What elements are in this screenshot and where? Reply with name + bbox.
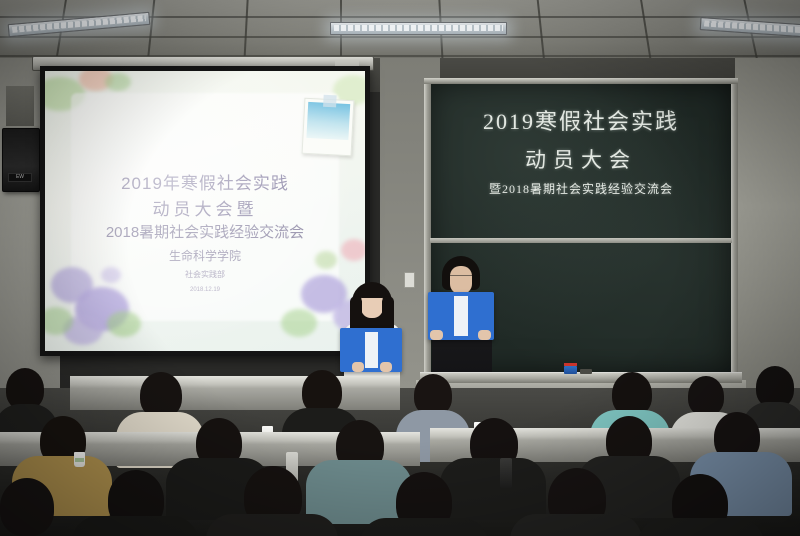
eyeglasses-icon — [450, 275, 472, 281]
slide-text-block: 2019年寒假社会实践 动员大会暨 2018暑期社会实践经验交流会 生命科学学院… — [45, 71, 365, 351]
classroom-scene: EW 2019年寒假社会实践 动员大会暨 2018暑期社会实践 — [0, 0, 800, 536]
blackboard-eraser[interactable] — [580, 369, 592, 374]
ceiling — [0, 0, 800, 62]
slide-organization: 生命科学学院 — [45, 247, 365, 264]
blackboard-rail-top — [424, 78, 738, 84]
thermos-bottle-dark[interactable] — [500, 458, 512, 488]
slide-date: 2018.12.19 — [45, 287, 365, 293]
female-host-hand-left — [352, 362, 364, 372]
blackboard-panel-divider — [430, 238, 732, 243]
right-wall — [735, 58, 800, 388]
blackboard-line3: 暨2018暑期社会实践经验交流会 — [430, 180, 732, 197]
desk-row-back-face — [70, 388, 400, 410]
slide-department: 社会实践部 — [45, 269, 365, 280]
female-host-hand-right — [380, 362, 392, 372]
chalk-box[interactable] — [564, 366, 577, 374]
wall-speaker-label: EW — [8, 173, 32, 182]
female-host-bangs — [358, 284, 386, 298]
light-switch[interactable] — [404, 272, 415, 288]
wall-bracket — [6, 86, 34, 126]
projection-screen: 2019年寒假社会实践 动员大会暨 2018暑期社会实践经验交流会 生命科学学院… — [45, 71, 365, 351]
ceiling-light-center — [330, 22, 507, 35]
slide-title-line1: 2019年寒假社会实践 — [45, 169, 365, 194]
wall-speaker: EW — [2, 128, 40, 192]
male-host-hand-right — [478, 330, 491, 340]
paper-cup-front[interactable] — [74, 452, 85, 467]
female-host-folder — [340, 328, 402, 372]
blackboard-line1: 2019寒假社会实践 — [430, 104, 732, 136]
blackboard-rail-right — [731, 78, 738, 378]
male-host-hand-left — [430, 330, 443, 340]
blackboard-line2: 动员大会 — [430, 144, 732, 174]
slide-title-line3: 2018暑期社会实践经验交流会 — [45, 221, 365, 242]
slide-title-line2: 动员大会暨 — [45, 195, 365, 220]
